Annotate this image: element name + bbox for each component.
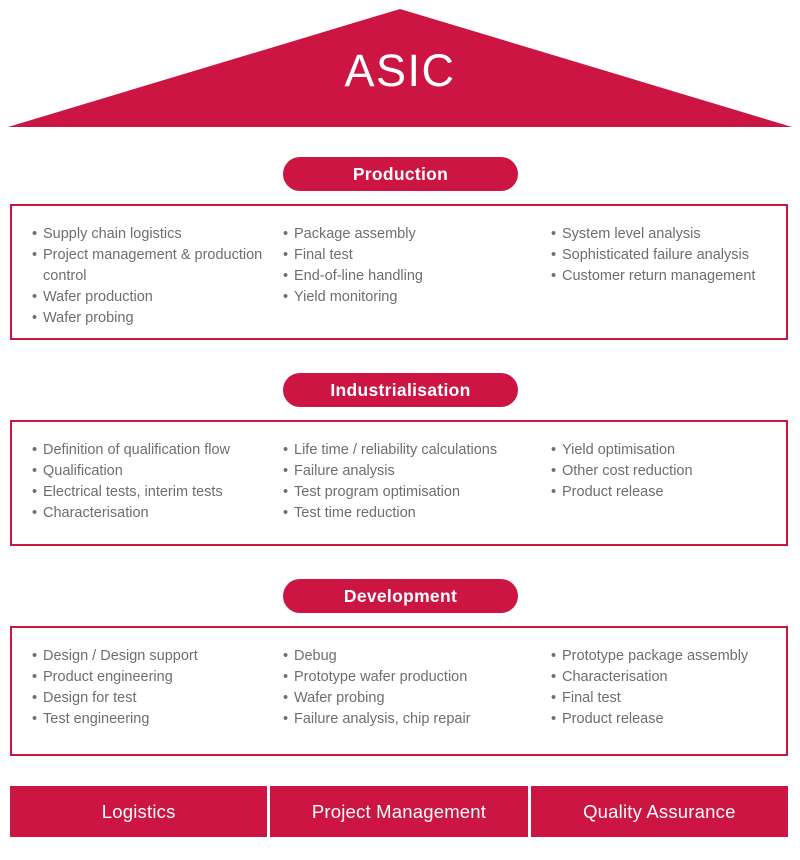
stage-pill-label: Development xyxy=(344,586,457,607)
bullet-list: Design / Design support Product engineer… xyxy=(32,646,280,730)
list-item: Definition of qualification flow xyxy=(32,440,280,461)
foundation-cell-project-management[interactable]: Project Management xyxy=(270,786,527,837)
list-item: Product engineering xyxy=(32,667,280,688)
list-item: Test program optimisation xyxy=(283,482,547,503)
list-item: Sophisticated failure analysis xyxy=(551,245,787,266)
bullet-list: Supply chain logistics Project managemen… xyxy=(32,224,280,329)
stage-column: Prototype package assembly Characterisat… xyxy=(551,646,787,730)
list-item: Failure analysis xyxy=(283,461,547,482)
list-item: Final test xyxy=(551,688,787,709)
list-item: Debug xyxy=(283,646,547,667)
list-item: Supply chain logistics xyxy=(32,224,280,245)
bullet-list: Life time / reliability calculations Fai… xyxy=(283,440,547,524)
stage-column: Life time / reliability calculations Fai… xyxy=(283,440,547,524)
stage-column: Debug Prototype wafer production Wafer p… xyxy=(283,646,547,730)
stage-column: Yield optimisation Other cost reduction … xyxy=(551,440,787,503)
list-item: Other cost reduction xyxy=(551,461,787,482)
stage-pill-label: Production xyxy=(353,164,448,185)
foundation-cell-label: Logistics xyxy=(102,801,176,823)
stage-column: Design / Design support Product engineer… xyxy=(32,646,280,730)
list-item: Product release xyxy=(551,709,787,730)
list-item: Qualification xyxy=(32,461,280,482)
stage-pill-label: Industrialisation xyxy=(330,380,470,401)
list-item: Final test xyxy=(283,245,547,266)
list-item: Wafer production xyxy=(32,287,280,308)
page-title: ASIC xyxy=(0,45,800,97)
list-item: Customer return management xyxy=(551,266,787,287)
bullet-list: Debug Prototype wafer production Wafer p… xyxy=(283,646,547,730)
list-item: Life time / reliability calculations xyxy=(283,440,547,461)
list-item: Prototype package assembly xyxy=(551,646,787,667)
list-item: System level analysis xyxy=(551,224,787,245)
list-item: Test engineering xyxy=(32,709,280,730)
foundation-cell-label: Project Management xyxy=(312,801,486,823)
list-item: Characterisation xyxy=(551,667,787,688)
list-item: Characterisation xyxy=(32,503,280,524)
bullet-list: Definition of qualification flow Qualifi… xyxy=(32,440,280,524)
bullet-list: Yield optimisation Other cost reduction … xyxy=(551,440,787,503)
bullet-list: Prototype package assembly Characterisat… xyxy=(551,646,787,730)
list-item: Failure analysis, chip repair xyxy=(283,709,547,730)
stage-pill-production[interactable]: Production xyxy=(283,157,518,191)
list-item: Electrical tests, interim tests xyxy=(32,482,280,503)
list-item: End-of-line handling xyxy=(283,266,547,287)
list-item: Design / Design support xyxy=(32,646,280,667)
stage-pill-development[interactable]: Development xyxy=(283,579,518,613)
stage-box-production: Supply chain logistics Project managemen… xyxy=(10,204,788,340)
stage-column: Supply chain logistics Project managemen… xyxy=(32,224,280,329)
list-item: Test time reduction xyxy=(283,503,547,524)
roof-banner: ASIC xyxy=(0,0,800,128)
list-item: Wafer probing xyxy=(283,688,547,709)
list-item: Product release xyxy=(551,482,787,503)
foundation-cell-logistics[interactable]: Logistics xyxy=(10,786,267,837)
list-item: Wafer probing xyxy=(32,308,280,329)
list-item: Prototype wafer production xyxy=(283,667,547,688)
asic-capability-diagram: ASIC Production Supply chain logistics P… xyxy=(0,0,800,860)
list-item: Yield optimisation xyxy=(551,440,787,461)
list-item: Design for test xyxy=(32,688,280,709)
list-item: Project management & production control xyxy=(32,245,280,287)
stage-pill-industrialisation[interactable]: Industrialisation xyxy=(283,373,518,407)
bullet-list: Package assembly Final test End-of-line … xyxy=(283,224,547,308)
foundation-bar: Logistics Project Management Quality Ass… xyxy=(10,786,788,837)
bullet-list: System level analysis Sophisticated fail… xyxy=(551,224,787,287)
stage-box-development: Design / Design support Product engineer… xyxy=(10,626,788,756)
stage-column: Package assembly Final test End-of-line … xyxy=(283,224,547,308)
list-item: Package assembly xyxy=(283,224,547,245)
stage-box-industrialisation: Definition of qualification flow Qualifi… xyxy=(10,420,788,546)
stage-column: System level analysis Sophisticated fail… xyxy=(551,224,787,287)
list-item: Yield monitoring xyxy=(283,287,547,308)
stage-column: Definition of qualification flow Qualifi… xyxy=(32,440,280,524)
foundation-cell-label: Quality Assurance xyxy=(583,801,736,823)
foundation-cell-quality-assurance[interactable]: Quality Assurance xyxy=(531,786,788,837)
